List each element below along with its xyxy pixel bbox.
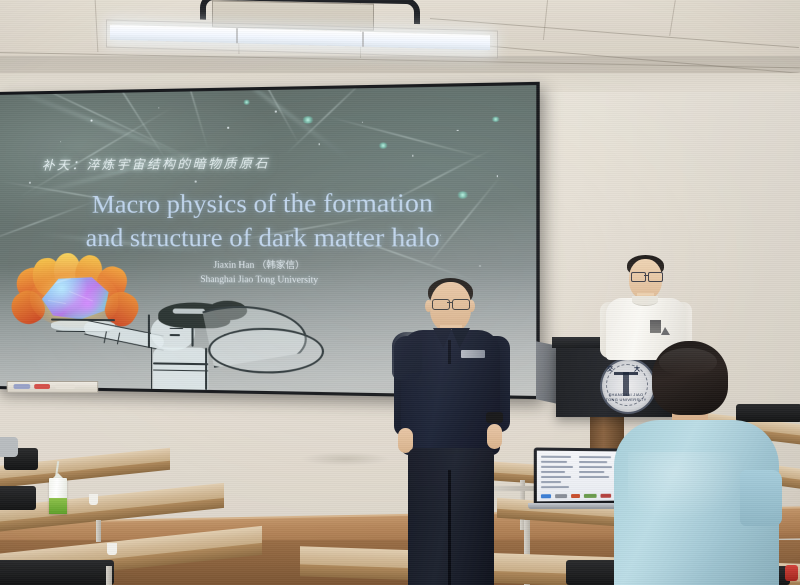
glasses-left-lens-icon xyxy=(631,272,646,282)
laptop-keyboard-base[interactable] xyxy=(528,503,626,509)
chair[interactable] xyxy=(736,404,800,422)
chair[interactable] xyxy=(0,560,114,585)
red-marker-icon xyxy=(34,384,50,389)
red-object-on-desk xyxy=(785,565,798,581)
tshirt-collar xyxy=(632,296,658,306)
slide-title-line-2: and structure of dark matter halo xyxy=(0,220,536,255)
slide-english-title: Macro physics of the formation and struc… xyxy=(0,185,536,256)
shirt-fold-highlight xyxy=(628,452,748,522)
glasses-right-lens-icon xyxy=(648,272,663,282)
glasses-bridge xyxy=(644,275,649,276)
eraser-icon xyxy=(55,384,75,389)
emblem-arc-text: SHANGHAI JIAO TONG UNIVERSITY xyxy=(604,392,648,406)
carton-label xyxy=(49,498,67,514)
sleeve-right xyxy=(740,470,782,526)
glasses-bridge xyxy=(447,302,453,303)
laptop-display[interactable] xyxy=(537,451,617,502)
wristwatch-icon xyxy=(486,412,503,423)
lecture-room-photo: 补天：淬炼宇宙结构的暗物质原石 Macro physics of the for… xyxy=(0,0,800,585)
glasses-right-lens-icon xyxy=(452,299,470,310)
chair[interactable] xyxy=(0,486,36,510)
hair-highlight xyxy=(659,348,717,376)
shirt-graphic-icon xyxy=(650,320,661,333)
paper-cup xyxy=(107,543,117,555)
trousers xyxy=(408,448,494,585)
marker-tray xyxy=(7,381,99,393)
slide-chinese-title: 补天：淬炼宇宙结构的暗物质原石 xyxy=(42,152,270,174)
emblem-char-left: 交 xyxy=(607,364,613,373)
sleeve-left xyxy=(392,332,422,380)
glasses-left-lens-icon xyxy=(432,299,450,310)
paper-cup xyxy=(89,494,98,505)
desk-crossbar xyxy=(487,486,539,491)
blue-marker-icon xyxy=(14,384,31,389)
bag-on-chair xyxy=(0,437,18,457)
trouser-seam xyxy=(448,470,451,585)
emblem-char-right: 大 xyxy=(634,364,640,373)
desk-leg xyxy=(106,566,112,585)
slide-title-line-1: Macro physics of the formation xyxy=(0,185,536,222)
polo-placket xyxy=(448,340,451,364)
hand-right xyxy=(487,424,502,449)
shirt-chest-logo-icon xyxy=(461,350,485,358)
wall-scuff-mark xyxy=(300,452,390,466)
desk-leg xyxy=(96,520,101,542)
ear-left xyxy=(425,300,432,312)
